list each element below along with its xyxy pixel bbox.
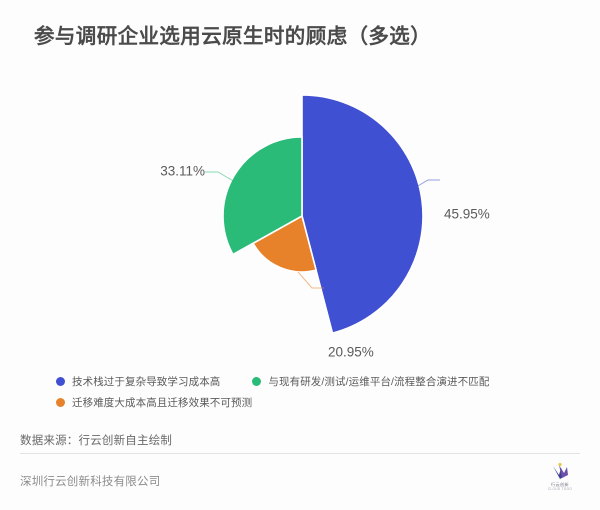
logo-subtitle: CLOUD TOGO — [540, 487, 580, 492]
pie-slice-label: 45.95% — [444, 207, 490, 222]
pie-slice-label: 20.95% — [328, 345, 374, 360]
company-logo: 行云创新 CLOUD TOGO — [540, 462, 580, 496]
legend-item-migration[interactable]: 迁移难度大成本高且迁移效果不可预测 — [56, 395, 252, 410]
logo-text: 行云创新 CLOUD TOGO — [540, 482, 580, 492]
legend-item-integration[interactable]: 与现有研发/测试/运维平台/流程整合演进不匹配 — [252, 374, 489, 389]
legend-item-tech-stack[interactable]: 技术栈过于复杂导致学习成本高 — [56, 374, 220, 389]
pie-leader-line — [205, 172, 235, 182]
legend-color-swatch-orange — [56, 398, 65, 407]
page-title: 参与调研企业选用云原生时的顾虑（多选） — [34, 19, 431, 49]
pie-slice-label: 33.11% — [160, 164, 205, 179]
legend-row-1: 技术栈过于复杂导致学习成本高 与现有研发/测试/运维平台/流程整合演进不匹配 — [56, 372, 576, 390]
logo-mark-icon — [540, 462, 580, 482]
pie-chart: 45.95%20.95%33.11% — [0, 60, 600, 360]
legend-color-swatch-blue — [56, 377, 65, 386]
footer-divider — [20, 453, 580, 454]
chart-page: 参与调研企业选用云原生时的顾虑（多选） 45.95%20.95%33.11% 技… — [0, 0, 600, 510]
legend-color-swatch-green — [252, 377, 261, 386]
pie-slices — [223, 95, 423, 333]
pie-chart-svg: 45.95%20.95%33.11% — [0, 60, 600, 360]
data-source-note: 数据来源：行云创新自主绘制 — [20, 432, 172, 448]
company-name: 深圳行云创新科技有限公司 — [20, 473, 160, 489]
legend: 技术栈过于复杂导致学习成本高 与现有研发/测试/运维平台/流程整合演进不匹配 迁… — [56, 372, 576, 414]
legend-item-label: 迁移难度大成本高且迁移效果不可预测 — [72, 395, 252, 410]
legend-row-2: 迁移难度大成本高且迁移效果不可预测 — [56, 393, 576, 411]
legend-item-label: 技术栈过于复杂导致学习成本高 — [72, 374, 220, 389]
legend-item-label: 与现有研发/测试/运维平台/流程整合演进不匹配 — [268, 374, 489, 389]
pie-slice[interactable] — [302, 95, 423, 333]
